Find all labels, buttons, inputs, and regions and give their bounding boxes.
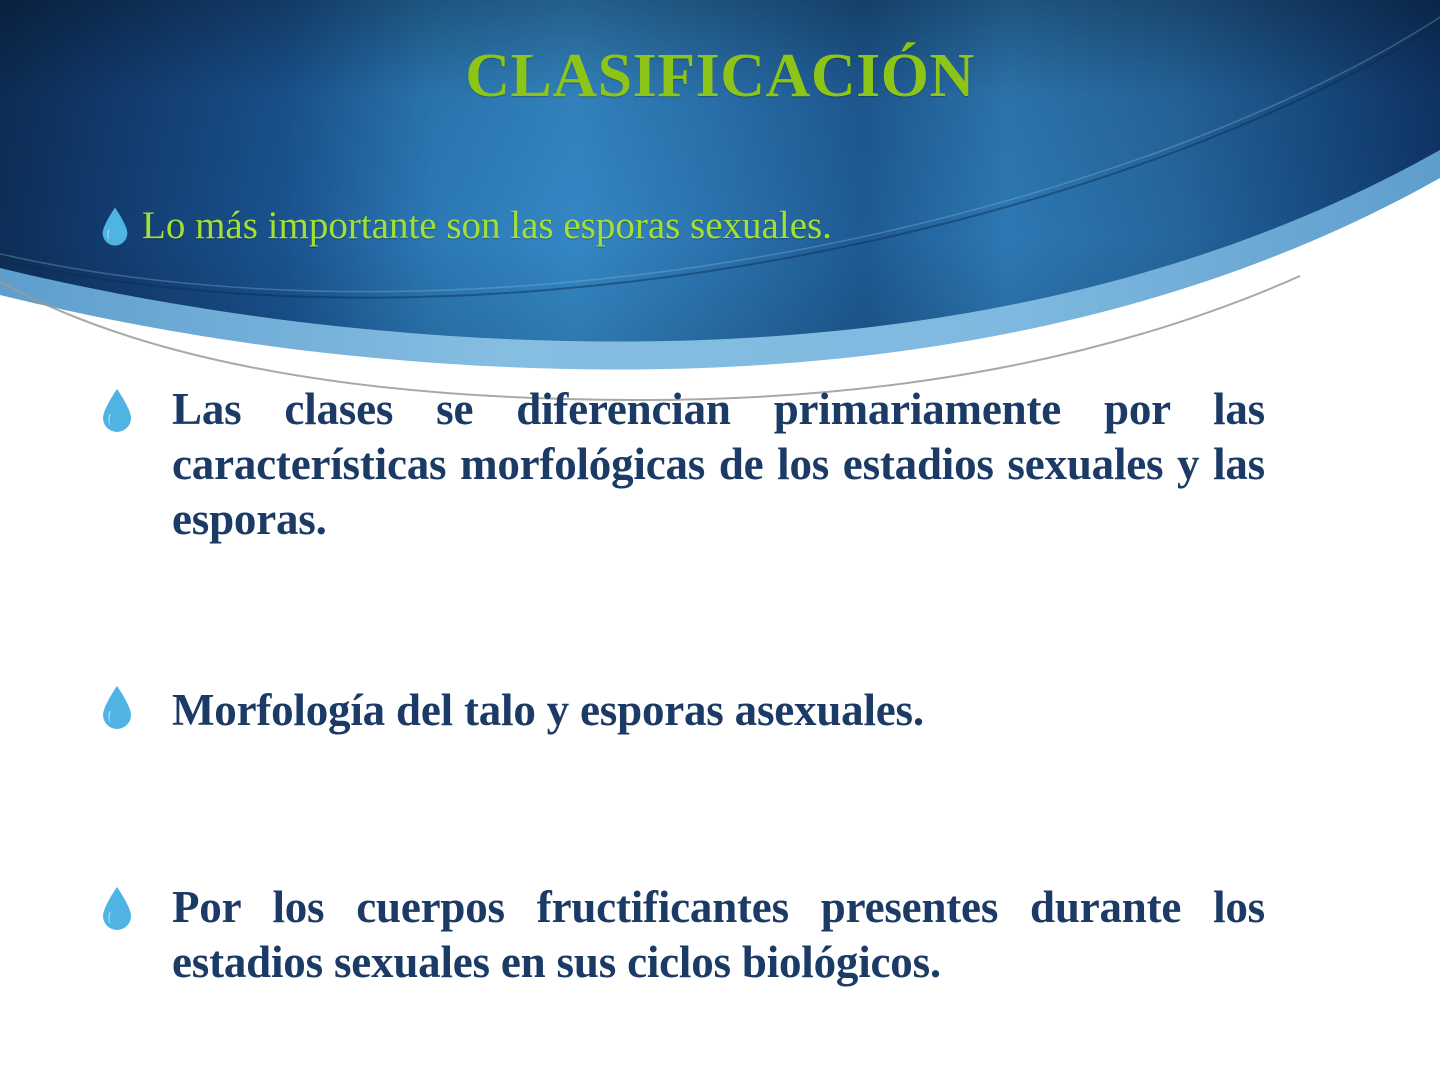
water-drop-bullet-icon	[100, 685, 134, 731]
bullet-item-2: Las clases se diferencian primariamente …	[100, 382, 1265, 547]
bullet-text-4: Por los cuerpos fructificantes presentes…	[172, 880, 1265, 990]
bullet-text-1: Lo más importante son las esporas sexual…	[142, 204, 1280, 248]
water-drop-bullet-icon	[100, 388, 134, 434]
bullet-item-3: Morfología del talo y esporas asexuales.	[100, 683, 1265, 738]
bullet-text-2: Las clases se diferencian primariamente …	[172, 382, 1265, 547]
bullet-text-3: Morfología del talo y esporas asexuales.	[172, 683, 1265, 738]
water-drop-bullet-icon	[100, 886, 134, 932]
slide-canvas: CLASIFICACIÓN Lo más importante son las …	[0, 0, 1440, 1080]
bullet-item-1: Lo más importante son las esporas sexual…	[100, 204, 1280, 248]
bullet-item-4: Por los cuerpos fructificantes presentes…	[100, 880, 1265, 990]
page-title: CLASIFICACIÓN	[0, 44, 1440, 109]
water-drop-bullet-icon	[100, 206, 130, 248]
